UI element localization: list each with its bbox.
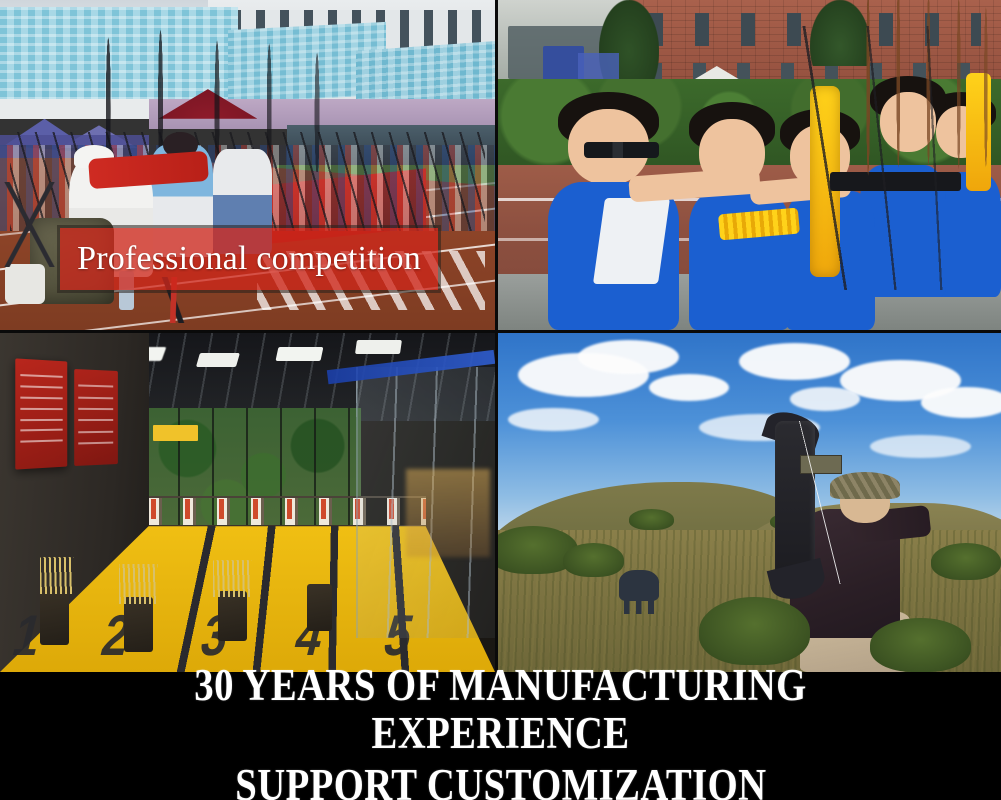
arrow-quiver-1 xyxy=(40,587,70,645)
cloud-2 xyxy=(578,340,679,374)
arrow-quiver-2 xyxy=(124,597,154,651)
collage-page: Professional competition xyxy=(0,0,1001,800)
photo-practice: 1 2 3 4 5 xyxy=(0,333,495,672)
cloud-7 xyxy=(508,408,599,432)
bush-6 xyxy=(629,509,674,529)
cloud-3 xyxy=(649,374,729,401)
panel-professional-competition[interactable]: Professional competition xyxy=(0,0,498,333)
photo-hunting xyxy=(498,333,1001,672)
cloud-6 xyxy=(921,387,1001,418)
arrow-bundle-3 xyxy=(213,560,253,597)
cloud-9 xyxy=(870,435,971,459)
ceiling-light-4 xyxy=(355,340,401,354)
photo-shooting-game xyxy=(498,0,1001,330)
bow-strings xyxy=(649,26,1001,290)
antelope-legs xyxy=(624,597,654,614)
bow-string xyxy=(780,421,860,584)
cloud-10 xyxy=(790,387,860,411)
bush-3 xyxy=(699,597,810,665)
red-rules-sign-1 xyxy=(15,358,67,470)
panel-shooting-game[interactable]: Shooting game xyxy=(498,0,1001,333)
shop-window-glow xyxy=(406,469,490,557)
ceiling-light-2 xyxy=(196,353,239,367)
arrow-bundle-2 xyxy=(119,564,159,605)
panel-hunting[interactable]: Hunting xyxy=(498,333,1001,672)
image-grid: Professional competition xyxy=(0,0,1001,672)
footer-banner: 30 YEARS OF MANUFACTURING EXPERIENCE SUP… xyxy=(0,672,1001,800)
footer-line-1: 30 YEARS OF MANUFACTURING EXPERIENCE xyxy=(70,662,931,757)
camera-tripod xyxy=(0,182,59,268)
red-rules-sign-2 xyxy=(74,369,117,466)
panel-practice[interactable]: 1 2 3 4 5 Practice xyxy=(0,333,498,672)
bush-2 xyxy=(563,543,623,577)
white-bucket xyxy=(5,264,45,304)
arrow-bundle-1 xyxy=(40,557,75,594)
yellow-wall-sign xyxy=(153,425,198,442)
arrow-quiver-3 xyxy=(218,591,248,642)
footer-line-2: SUPPORT CUSTOMIZATION xyxy=(235,762,766,800)
caption-professional-competition: Professional competition xyxy=(60,228,438,290)
boy-one-glasses xyxy=(584,142,659,159)
caption-text: Professional competition xyxy=(77,242,421,276)
antelope-target-animal xyxy=(619,570,659,601)
bush-5 xyxy=(931,543,1001,580)
arrow-quiver-4 xyxy=(307,584,332,631)
ceiling-light-3 xyxy=(276,347,323,361)
